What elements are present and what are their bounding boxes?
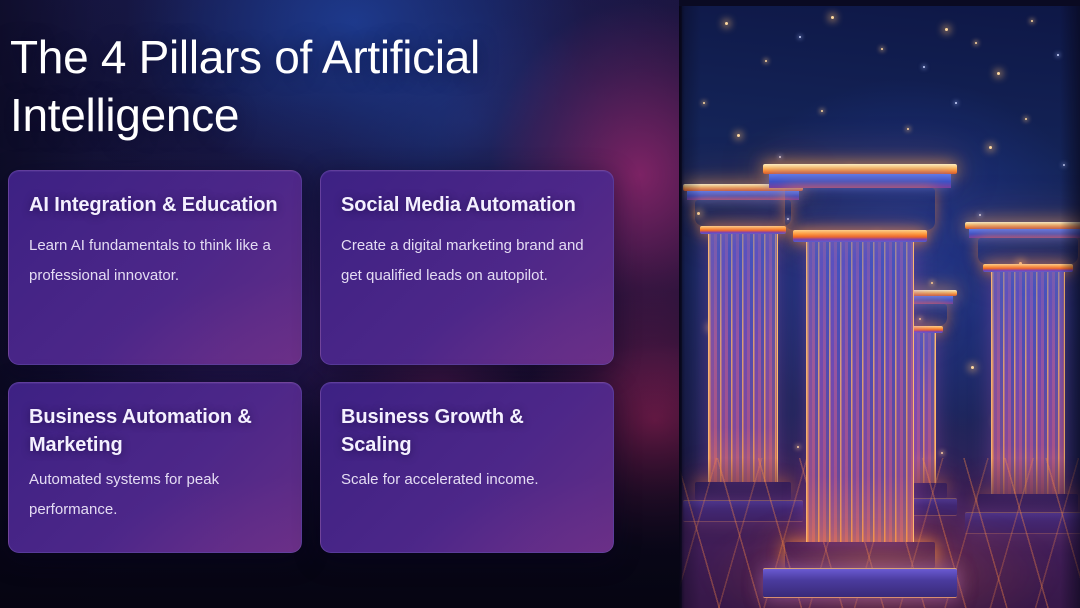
card-title: Social Media Automation xyxy=(341,191,591,219)
pillar-front-center xyxy=(763,164,957,598)
pillar-card-social-media-automation[interactable]: Social Media Automation Create a digital… xyxy=(320,170,614,365)
card-inner: Business Automation & Marketing Automate… xyxy=(29,403,279,525)
artwork-top-letterbox xyxy=(679,0,1080,6)
card-title: AI Integration & Education xyxy=(29,191,279,219)
pillar-card-business-automation-marketing[interactable]: Business Automation & Marketing Automate… xyxy=(8,382,302,553)
card-title: Business Automation & Marketing xyxy=(29,403,279,459)
card-inner: Business Growth & Scaling Scale for acce… xyxy=(341,403,591,495)
card-description: Scale for accelerated income. xyxy=(341,465,591,495)
card-description: Create a digital marketing brand and get… xyxy=(341,231,591,291)
left-content-panel: The 4 Pillars of Artificial Intelligence… xyxy=(0,0,679,608)
slide-root: The 4 Pillars of Artificial Intelligence… xyxy=(0,0,1080,608)
card-title: Business Growth & Scaling xyxy=(341,403,591,459)
left-content-stack: The 4 Pillars of Artificial Intelligence… xyxy=(0,0,679,608)
card-description: Automated systems for peak performance. xyxy=(29,465,279,525)
pillar-card-grid: AI Integration & Education Learn AI fund… xyxy=(8,170,620,553)
card-description: Learn AI fundamentals to think like a pr… xyxy=(29,231,279,291)
pillar-card-ai-integration-education[interactable]: AI Integration & Education Learn AI fund… xyxy=(8,170,302,365)
pillar-card-business-growth-scaling[interactable]: Business Growth & Scaling Scale for acce… xyxy=(320,382,614,553)
panel-divider xyxy=(679,0,682,608)
pillars-artwork-panel xyxy=(679,0,1080,608)
card-inner: Social Media Automation Create a digital… xyxy=(341,191,591,291)
card-inner: AI Integration & Education Learn AI fund… xyxy=(29,191,279,291)
neon-pillars-image xyxy=(679,6,1080,608)
page-title: The 4 Pillars of Artificial Intelligence xyxy=(0,20,679,144)
